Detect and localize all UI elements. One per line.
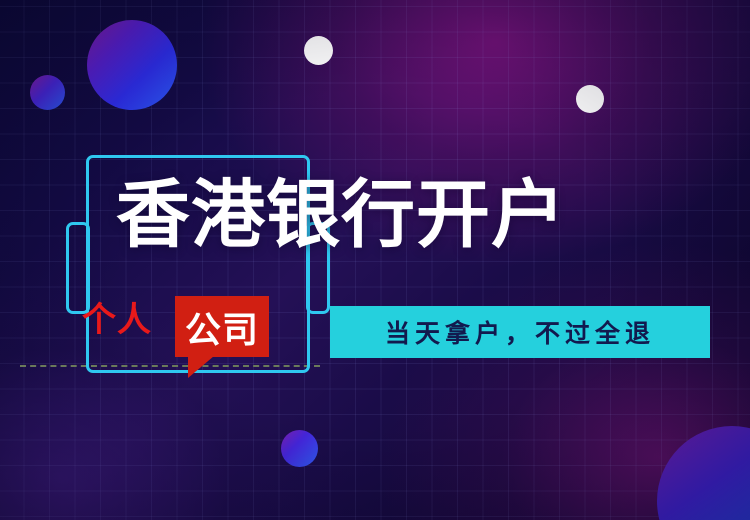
- decor-circle-small-top-left: [30, 75, 65, 110]
- poster-canvas: 香港银行开户 个人 公司 当天拿户，不过全退: [0, 0, 750, 520]
- page-title: 香港银行开户: [116, 178, 566, 252]
- promo-banner-text: 当天拿户，不过全退: [385, 314, 655, 350]
- decor-dot-white-top: [304, 36, 333, 65]
- decor-circle-bottom-left: [281, 430, 318, 467]
- tag-personal: 个人: [82, 303, 152, 337]
- tag-company-label: 公司: [175, 296, 269, 357]
- tag-company-bubble: 公司: [175, 296, 269, 357]
- decor-dot-white-right: [576, 85, 604, 113]
- tag-company-bubble-tail: [188, 356, 214, 378]
- decor-circle-large-top-left: [87, 20, 177, 110]
- promo-banner: 当天拿户，不过全退: [330, 306, 710, 358]
- decor-circle-bottom-right: [657, 426, 750, 520]
